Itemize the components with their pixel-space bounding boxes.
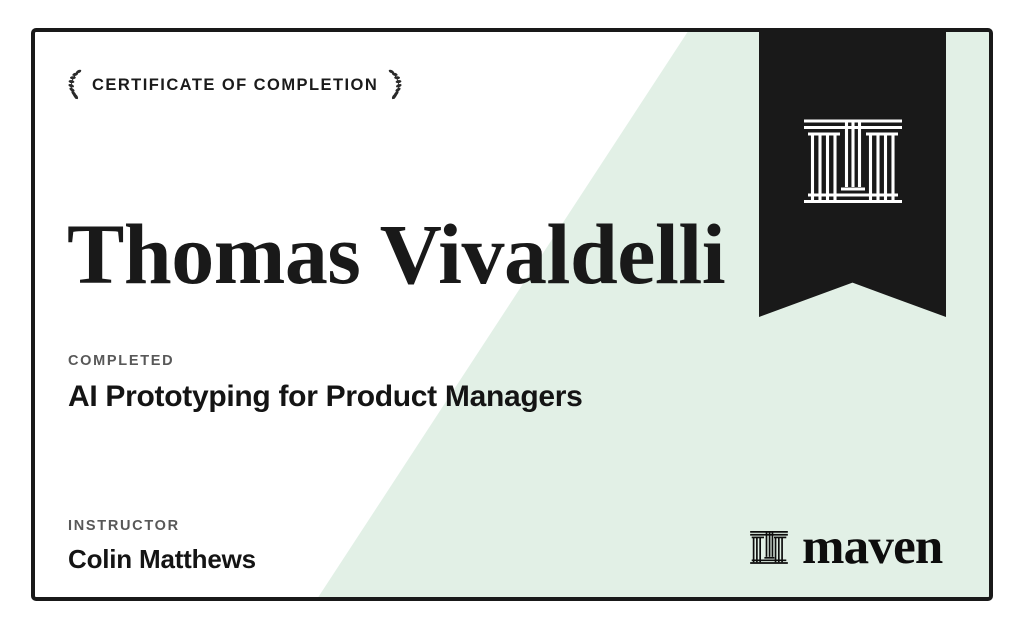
certificate-card-inner: CERTIFICATE OF COMPLETION [35, 32, 989, 597]
instructor-block: INSTRUCTOR Colin Matthews [68, 519, 256, 574]
maven-temple-columns-emblem [801, 113, 905, 213]
certificate-eyebrow-text: CERTIFICATE OF COMPLETION [92, 77, 378, 94]
course-title: AI Prototyping for Product Managers [68, 380, 583, 415]
instructor-name: Colin Matthews [68, 545, 256, 575]
maven-wordmark: maven [802, 522, 942, 573]
laurel-branch-left-icon [65, 69, 85, 101]
laurel-branch-right-icon [385, 69, 405, 101]
maven-temple-columns-icon [749, 528, 789, 568]
black-ribbon-banner [759, 32, 946, 317]
instructor-label: INSTRUCTOR [68, 519, 256, 534]
maven-brand-lockup: maven [749, 522, 942, 573]
completed-label: COMPLETED [68, 354, 583, 369]
certificate-header: CERTIFICATE OF COMPLETION [65, 69, 405, 101]
certificate-page: CERTIFICATE OF COMPLETION [0, 0, 1024, 630]
recipient-name: Thomas Vivaldelli [67, 209, 725, 299]
certificate-card: CERTIFICATE OF COMPLETION [31, 28, 993, 601]
course-block: COMPLETED AI Prototyping for Product Man… [68, 354, 583, 414]
